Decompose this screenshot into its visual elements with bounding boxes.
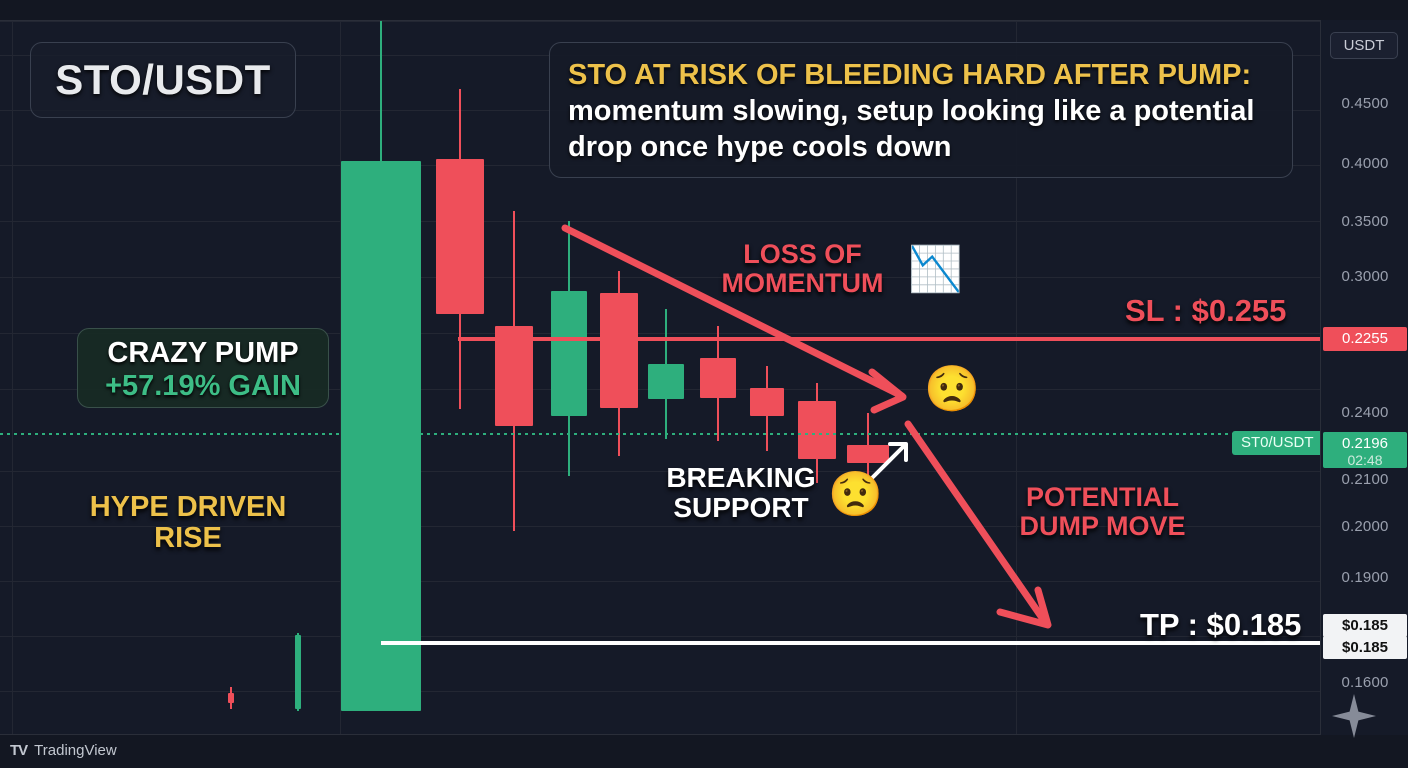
annotation-hype-driven-rise: HYPE DRIVEN RISE xyxy=(60,492,316,555)
axis-tick: 0.3500 xyxy=(1321,213,1408,230)
gridline-h xyxy=(0,21,1320,22)
take-profit-price-chip: $0.185 xyxy=(1323,614,1407,637)
worried-face-icon: 😟 xyxy=(924,366,980,411)
symbol-title-box: STO/USDT xyxy=(30,42,296,118)
last-price-chip: 0.2196 02:48 xyxy=(1323,432,1407,468)
bar-countdown: 02:48 xyxy=(1323,452,1407,469)
price-axis[interactable]: USDT 0.4500 0.4000 0.3500 0.3000 0.2255 … xyxy=(1320,20,1408,735)
candle xyxy=(648,309,684,439)
axis-tick: 0.1900 xyxy=(1321,569,1408,586)
banner-highlight: STO AT RISK OF BLEEDING HARD AFTER PUMP: xyxy=(568,59,1251,91)
pump-label: CRAZY PUMP xyxy=(78,337,328,370)
gridline-v xyxy=(12,21,13,734)
worried-face-icon: 😟 xyxy=(828,473,883,517)
currency-unit-label: USDT xyxy=(1330,32,1398,59)
gridline-h xyxy=(0,636,1320,637)
tradingview-watermark: TV TradingView xyxy=(10,742,117,759)
page-title: STO/USDT xyxy=(55,56,271,104)
gridline-h xyxy=(0,277,1320,278)
axis-tick: 0.3000 xyxy=(1321,268,1408,285)
gridline-h xyxy=(0,691,1320,692)
candle xyxy=(228,687,234,709)
banner-text: STO AT RISK OF BLEEDING HARD AFTER PUMP:… xyxy=(568,57,1274,165)
axis-tick: 0.1600 xyxy=(1321,674,1408,691)
chart-decreasing-icon: 📉 xyxy=(908,248,963,292)
trading-chart-screenshot: STO/USDT STO AT RISK OF BLEEDING HARD AF… xyxy=(0,0,1408,768)
annotation-stop-loss: SL : $0.255 xyxy=(1125,294,1286,327)
candle xyxy=(750,366,784,451)
symbol-legend-badge[interactable]: ST0/USDT xyxy=(1232,431,1323,455)
stop-loss-price-chip: 0.2255 xyxy=(1323,327,1407,351)
headline-banner: STO AT RISK OF BLEEDING HARD AFTER PUMP:… xyxy=(549,42,1293,178)
axis-tick: 0.4500 xyxy=(1321,95,1408,112)
last-price-value: 0.2196 xyxy=(1342,435,1388,452)
banner-rest: momentum slowing, setup looking like a p… xyxy=(568,95,1254,163)
axis-tick: 0.2100 xyxy=(1321,471,1408,488)
candle xyxy=(495,211,533,531)
candle xyxy=(295,633,301,711)
gridline-h xyxy=(0,221,1320,222)
axis-tick: 0.4000 xyxy=(1321,155,1408,172)
axis-tick: 0.2000 xyxy=(1321,518,1408,535)
annotation-loss-of-momentum: LOSS OF MOMENTUM xyxy=(700,240,905,298)
candle xyxy=(600,271,638,456)
candle xyxy=(436,89,484,409)
candle xyxy=(341,21,421,711)
candle xyxy=(551,221,587,476)
annotation-potential-dump: POTENTIAL DUMP MOVE xyxy=(1000,483,1205,541)
axis-tick: 0.2400 xyxy=(1321,404,1408,421)
annotation-take-profit: TP : $0.185 xyxy=(1140,608,1301,641)
pump-gain-value: +57.19% GAIN xyxy=(78,370,328,403)
gridline-h xyxy=(0,581,1320,582)
crazy-pump-badge: CRAZY PUMP +57.19% GAIN xyxy=(77,328,329,408)
tradingview-label: TradingView xyxy=(34,742,117,759)
tradingview-logo-icon: TV xyxy=(10,742,27,759)
candle xyxy=(700,326,736,441)
annotation-breaking-support: BREAKING SUPPORT xyxy=(655,463,827,523)
take-profit-price-chip: $0.185 xyxy=(1323,636,1407,659)
